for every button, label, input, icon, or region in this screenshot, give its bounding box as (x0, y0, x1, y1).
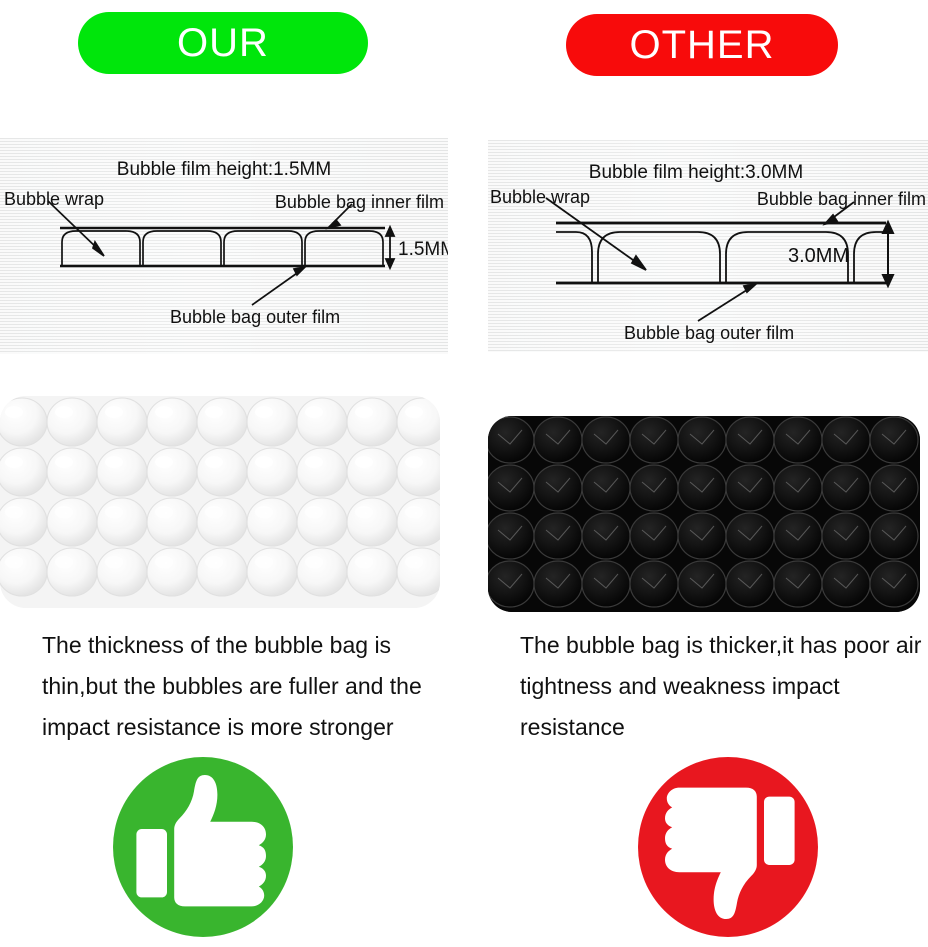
thumbs-up-icon (113, 757, 293, 937)
diagram-label-outer-film-our: Bubble bag outer film (170, 307, 340, 327)
diagram-panel-our: Bubble film height:1.5MM Bubble wrap Bub… (0, 138, 448, 354)
diagram-dimension-our: 1.5MM (398, 239, 448, 260)
diagram-title-other: Bubble film height:3.0MM (589, 162, 803, 183)
diagram-title-our: Bubble film height:1.5MM (117, 159, 331, 180)
thumbs-down-icon (638, 757, 818, 937)
diagram-dimension-other: 3.0MM (788, 245, 849, 267)
comparison-infographic: OUR OTHER (0, 0, 928, 947)
black-bubble-wrap-photo (488, 416, 920, 612)
white-bubble-wrap-photo (0, 396, 440, 608)
badge-our: OUR (78, 12, 368, 74)
diagram-label-bubble-wrap-other: Bubble wrap (490, 187, 590, 207)
badge-other: OTHER (566, 14, 838, 76)
caption-our: The thickness of the bubble bag is thin,… (42, 625, 462, 748)
diagram-label-outer-film-other: Bubble bag outer film (624, 323, 794, 343)
diagram-label-bubble-wrap-our: Bubble wrap (4, 189, 104, 209)
diagram-label-inner-film-our: Bubble bag inner film (275, 192, 444, 212)
caption-other: The bubble bag is thicker,it has poor ai… (520, 625, 928, 748)
diagram-panel-other: Bubble film height:3.0MM Bubble wrap Bub… (488, 140, 928, 352)
diagram-label-inner-film-other: Bubble bag inner film (757, 189, 926, 209)
